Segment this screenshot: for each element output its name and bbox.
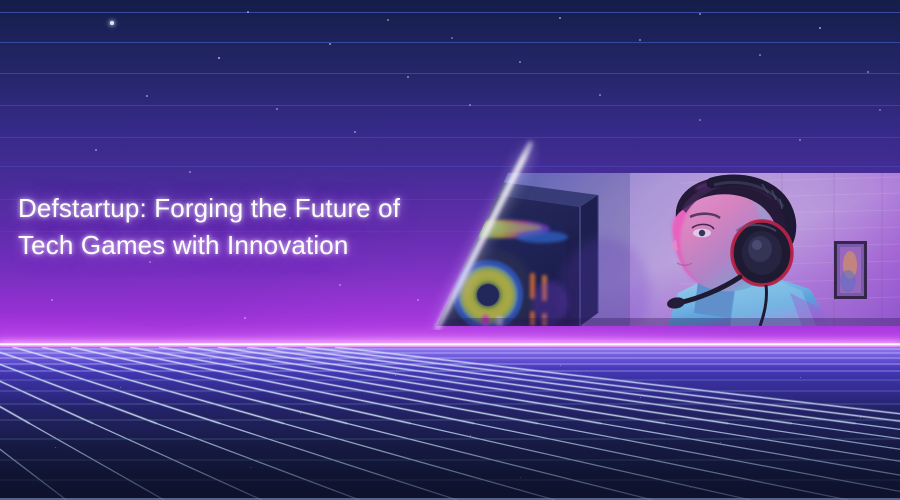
grid-vertical-line: [0, 347, 164, 500]
gamer-photo: [430, 173, 900, 326]
grid-vertical-glow: [306, 347, 900, 424]
retrowave-banner: Defstartup: Forging the Future of Tech G…: [0, 0, 900, 500]
grid-vertical-glow: [159, 347, 601, 424]
perspective-grid-floor: [0, 347, 900, 500]
grid-vertical-glow: [0, 347, 93, 424]
grid-vertical-glow: [0, 347, 157, 424]
grid-vertical-line: [0, 347, 457, 500]
